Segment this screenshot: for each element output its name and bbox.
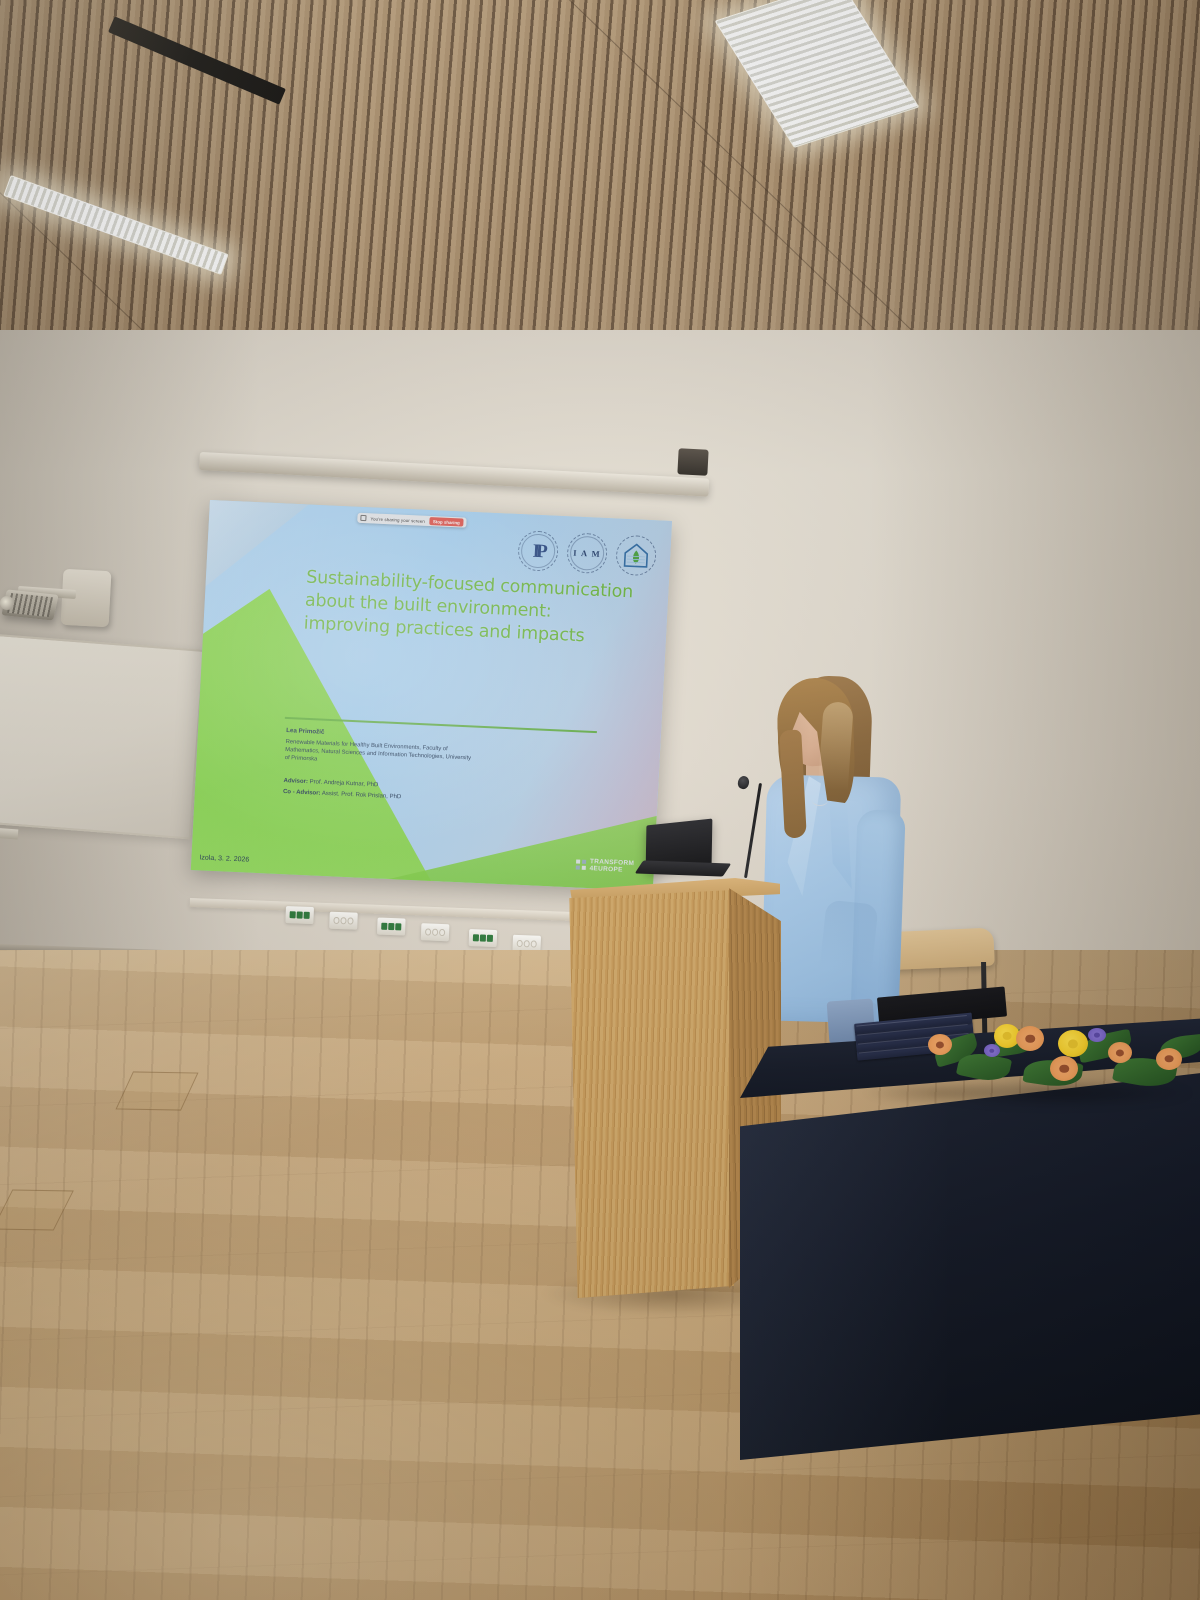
advisor-label: Advisor: xyxy=(283,778,308,785)
iam-logo: I A M xyxy=(566,532,608,574)
gerbera-flower xyxy=(928,1034,952,1055)
data-socket[interactable] xyxy=(377,918,406,936)
flower-arrangement xyxy=(928,1008,1200,1098)
house-leaf-icon xyxy=(622,542,649,569)
projector-lens-icon xyxy=(0,596,14,610)
rose-flower xyxy=(1058,1030,1088,1057)
slide-logo-row: IP I A M xyxy=(517,530,657,576)
gerbera-flower xyxy=(1016,1026,1044,1051)
lecture-hall-photo: You're sharing your screen Stop sharing … xyxy=(0,0,1200,1600)
data-socket[interactable] xyxy=(285,906,314,924)
presenter-necklace xyxy=(812,794,828,806)
gerbera-flower xyxy=(1156,1048,1182,1070)
advisor-name: Prof. Andreja Kutnar, PhD xyxy=(309,779,378,788)
power-socket[interactable] xyxy=(329,912,358,930)
whiteboard[interactable] xyxy=(0,633,205,840)
power-socket[interactable] xyxy=(421,923,450,941)
projection-screen: You're sharing your screen Stop sharing … xyxy=(191,500,672,891)
coadvisor-label: Co - Advisor: xyxy=(283,789,321,797)
t4e-grid-icon xyxy=(576,860,586,870)
gerbera-flower xyxy=(1050,1056,1078,1081)
gerbera-flower xyxy=(1108,1042,1132,1063)
projection-screen-end-cap xyxy=(677,448,708,476)
innorenew-coe-logo xyxy=(615,535,657,577)
statice-flower xyxy=(1088,1028,1106,1042)
university-of-primorska-logo: IP xyxy=(517,530,559,572)
whiteboard-pen-tray xyxy=(0,826,18,839)
stop-sharing-button[interactable]: Stop sharing xyxy=(429,517,464,527)
coadvisor-name: Assist. Prof. Rok Prislan, PhD xyxy=(322,791,402,801)
podium-front-panel xyxy=(566,890,734,1298)
statice-flower xyxy=(984,1044,1000,1057)
blazer-fold xyxy=(817,900,878,995)
data-socket[interactable] xyxy=(469,929,498,947)
screen-share-icon xyxy=(360,515,366,521)
screen-share-message: You're sharing your screen xyxy=(370,516,425,523)
table-cloth-front xyxy=(740,1072,1200,1460)
